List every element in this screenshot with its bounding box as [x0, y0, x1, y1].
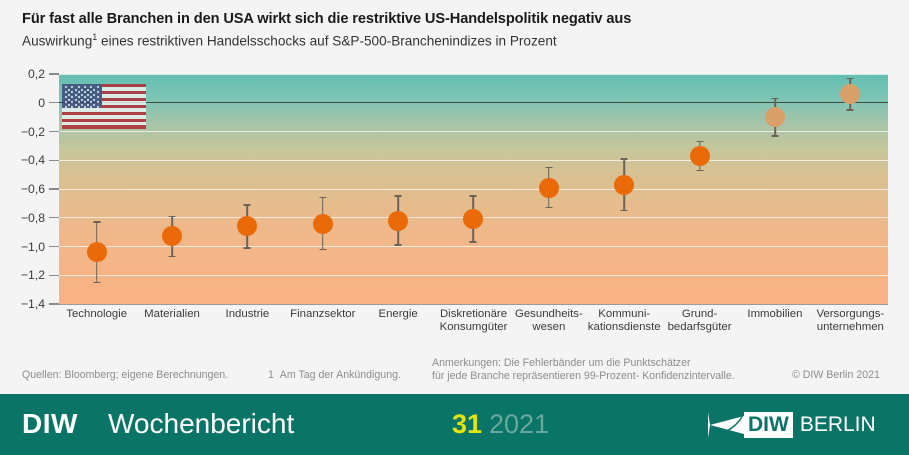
error-bar-cap-upper [93, 221, 100, 223]
berlin-logo-text: BERLIN [793, 412, 876, 438]
footer-brand-diw: DIW [22, 408, 78, 440]
data-point-group [210, 74, 285, 304]
error-bar-cap-lower [847, 109, 854, 111]
data-point-group [285, 74, 360, 304]
y-axis-tick [49, 217, 59, 218]
x-axis-label-line: unternehmen [795, 321, 905, 334]
error-bar-cap-upper [696, 141, 703, 143]
error-bar-cap-upper [395, 195, 402, 197]
x-axis-labels: TechnologieMaterialienIndustrieFinanzsek… [59, 308, 888, 348]
y-axis-label: −0,2 [21, 125, 45, 139]
error-bar-cap-lower [93, 282, 100, 284]
footnote-remarks: Anmerkungen: Die Fehlerbänder um die Pun… [432, 357, 735, 383]
page-title: Für fast alle Branchen in den USA wirkt … [22, 11, 631, 27]
x-axis-label: Versorgungs-unternehmen [795, 308, 905, 334]
error-bar-cap-lower [470, 241, 477, 243]
footer-band: DIW Wochenbericht 31 2021 DIW BERLIN [0, 394, 909, 455]
error-bar-cap-upper [319, 197, 326, 199]
data-series [59, 74, 888, 304]
error-bar-cap-lower [771, 135, 778, 137]
error-bar-cap-lower [545, 207, 552, 209]
y-axis-tick [49, 188, 59, 189]
data-point[interactable] [87, 242, 107, 262]
y-axis-label: 0,2 [28, 67, 45, 81]
y-axis-tick [49, 246, 59, 247]
diw-logo-text: DIW [744, 412, 793, 438]
y-axis-tick [49, 102, 59, 103]
y-axis-tick [49, 275, 59, 276]
data-point[interactable] [162, 226, 182, 246]
subtitle-text-pre: Auswirkung [22, 34, 92, 49]
error-bar-cap-upper [244, 204, 251, 206]
x-axis-label-line: Versorgungs- [795, 308, 905, 321]
error-bar-cap-lower [696, 170, 703, 172]
error-bar-cap-lower [169, 256, 176, 258]
data-point-group [587, 74, 662, 304]
footnote-note-1: 1 Am Tag der Ankündigung. [268, 369, 401, 382]
x-axis-label-line: bedarfsgüter [645, 321, 755, 334]
error-bar-cap-upper [771, 98, 778, 100]
error-bar-cap-lower [621, 210, 628, 212]
y-axis-label: 0 [38, 96, 45, 110]
error-bar-cap-lower [319, 249, 326, 251]
footer-issue-number: 31 [452, 409, 482, 440]
y-axis-label: −0,6 [21, 182, 45, 196]
data-point[interactable] [463, 209, 483, 229]
data-point[interactable] [539, 178, 559, 198]
copyright: © DIW Berlin 2021 [792, 369, 880, 382]
footnote-note-1-text: Am Tag der Ankündigung. [280, 369, 401, 381]
data-point-group [662, 74, 737, 304]
footnote-note-1-marker: 1 [268, 369, 274, 381]
data-point[interactable] [614, 175, 634, 195]
error-bar-cap-lower [244, 247, 251, 249]
data-point[interactable] [840, 84, 860, 104]
footnote-remarks-line1: Anmerkungen: Die Fehlerbänder um die Pun… [432, 357, 735, 370]
chart-area: 0,20−0,2−0,4−0,6−0,8−1,0−1,2−1,4 [59, 74, 888, 304]
error-bar-cap-upper [847, 78, 854, 80]
x-axis-line [59, 304, 888, 305]
footnote-remarks-line2: für jede Branche repräsentieren 99-Proze… [432, 370, 735, 383]
infographic-root: Für fast alle Branchen in den USA wirkt … [0, 0, 909, 455]
subtitle-text-post: eines restriktiven Handelsschocks auf S&… [97, 34, 556, 49]
diw-berlin-logo: DIW BERLIN [708, 412, 876, 438]
data-point-group [813, 74, 888, 304]
diw-logo-mark-icon [708, 412, 744, 438]
error-bar-cap-upper [621, 158, 628, 160]
plot-background [59, 74, 888, 304]
y-axis-label: −0,8 [21, 211, 45, 225]
data-point[interactable] [765, 107, 785, 127]
page-subtitle: Auswirkung1 eines restriktiven Handelssc… [22, 32, 557, 49]
data-point[interactable] [388, 211, 408, 231]
footer-brand-wochenbericht: Wochenbericht [108, 408, 294, 440]
error-bar-cap-lower [395, 244, 402, 246]
error-bar-cap-upper [470, 195, 477, 197]
data-point-group [59, 74, 134, 304]
y-axis-tick [49, 131, 59, 132]
y-axis-label: −1,2 [21, 268, 45, 282]
footer-year: 2021 [489, 409, 549, 440]
data-point[interactable] [690, 146, 710, 166]
y-axis-label: −0,4 [21, 153, 45, 167]
y-axis-tick [49, 160, 59, 161]
data-point-group [436, 74, 511, 304]
data-point[interactable] [313, 214, 333, 234]
y-axis-tick [49, 73, 59, 74]
data-point-group [360, 74, 435, 304]
y-axis-label: −1,0 [21, 240, 45, 254]
y-axis-tick [49, 303, 59, 304]
error-bar-cap-upper [545, 167, 552, 169]
data-point-group [134, 74, 209, 304]
footnote-sources: Quellen: Bloomberg; eigene Berechnungen. [22, 369, 228, 382]
data-point-group [737, 74, 812, 304]
data-point-group [511, 74, 586, 304]
data-point[interactable] [237, 216, 257, 236]
error-bar-cap-upper [169, 216, 176, 218]
